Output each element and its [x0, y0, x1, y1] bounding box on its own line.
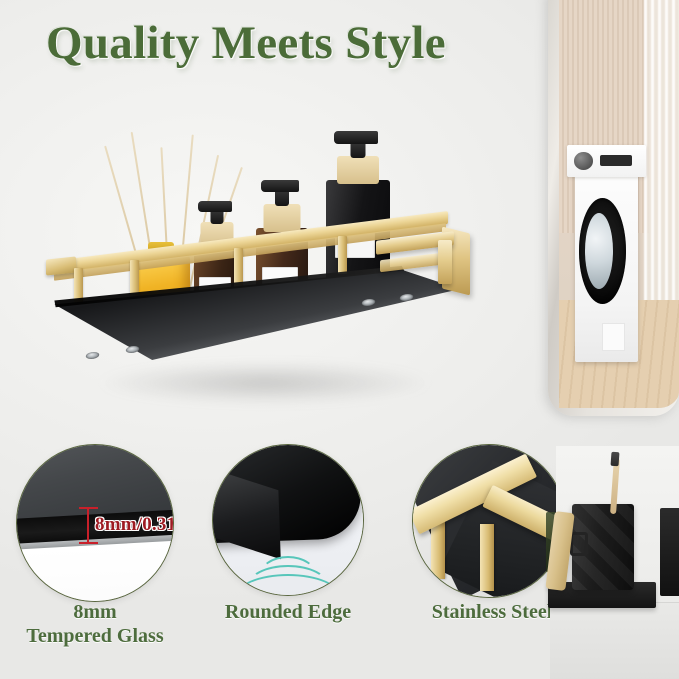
bracket-riser — [438, 240, 452, 284]
mirror-inset-scene — [548, 0, 679, 416]
washer-display — [600, 155, 631, 166]
gold-rail-left-cap — [46, 256, 76, 275]
washing-machine — [575, 167, 638, 363]
bottle-nozzle — [334, 131, 378, 144]
gold-rail-post — [338, 236, 347, 274]
cup-handle — [570, 532, 588, 556]
bottle-nozzle — [261, 180, 299, 192]
washer-control-panel — [567, 145, 646, 176]
caliper-bottom-cap — [79, 542, 98, 544]
toothbrush-holder-cup — [572, 504, 634, 590]
feature-circle-2 — [212, 444, 364, 596]
product-shadow — [100, 362, 430, 404]
mirror-frame — [548, 0, 679, 416]
caliper-line — [87, 507, 89, 543]
toothbrush-holder-scene — [556, 446, 679, 679]
product-marketing-image: Quality Meets Style — [0, 0, 679, 679]
scene-right-object — [660, 508, 679, 596]
washer-label — [602, 323, 626, 350]
feature-circle-3 — [412, 444, 566, 598]
counter-surface — [550, 602, 679, 679]
toothbrush-bristles — [611, 452, 620, 467]
page-title: Quality Meets Style — [46, 20, 446, 67]
bottle-collar — [337, 156, 379, 184]
feature-caption-1: 8mm Tempered Glass — [0, 600, 190, 648]
bottle-collar — [264, 204, 301, 232]
feature-caption-2: Rounded Edge — [202, 600, 374, 624]
feature-circle-1: 8mm/0.31″ — [16, 444, 174, 602]
washer-door — [579, 198, 626, 304]
mounting-screw — [85, 352, 101, 359]
sheer-curtain — [644, 0, 679, 308]
bottle-nozzle — [198, 201, 232, 212]
washer-door-glass — [585, 213, 613, 289]
rail-post — [480, 524, 494, 591]
mirror-reflection — [559, 0, 679, 408]
hero-shelf-product — [38, 112, 508, 412]
white-backdrop — [16, 539, 174, 602]
washer-knob — [574, 152, 593, 170]
thickness-badge: 8mm/0.31″ — [95, 514, 174, 536]
